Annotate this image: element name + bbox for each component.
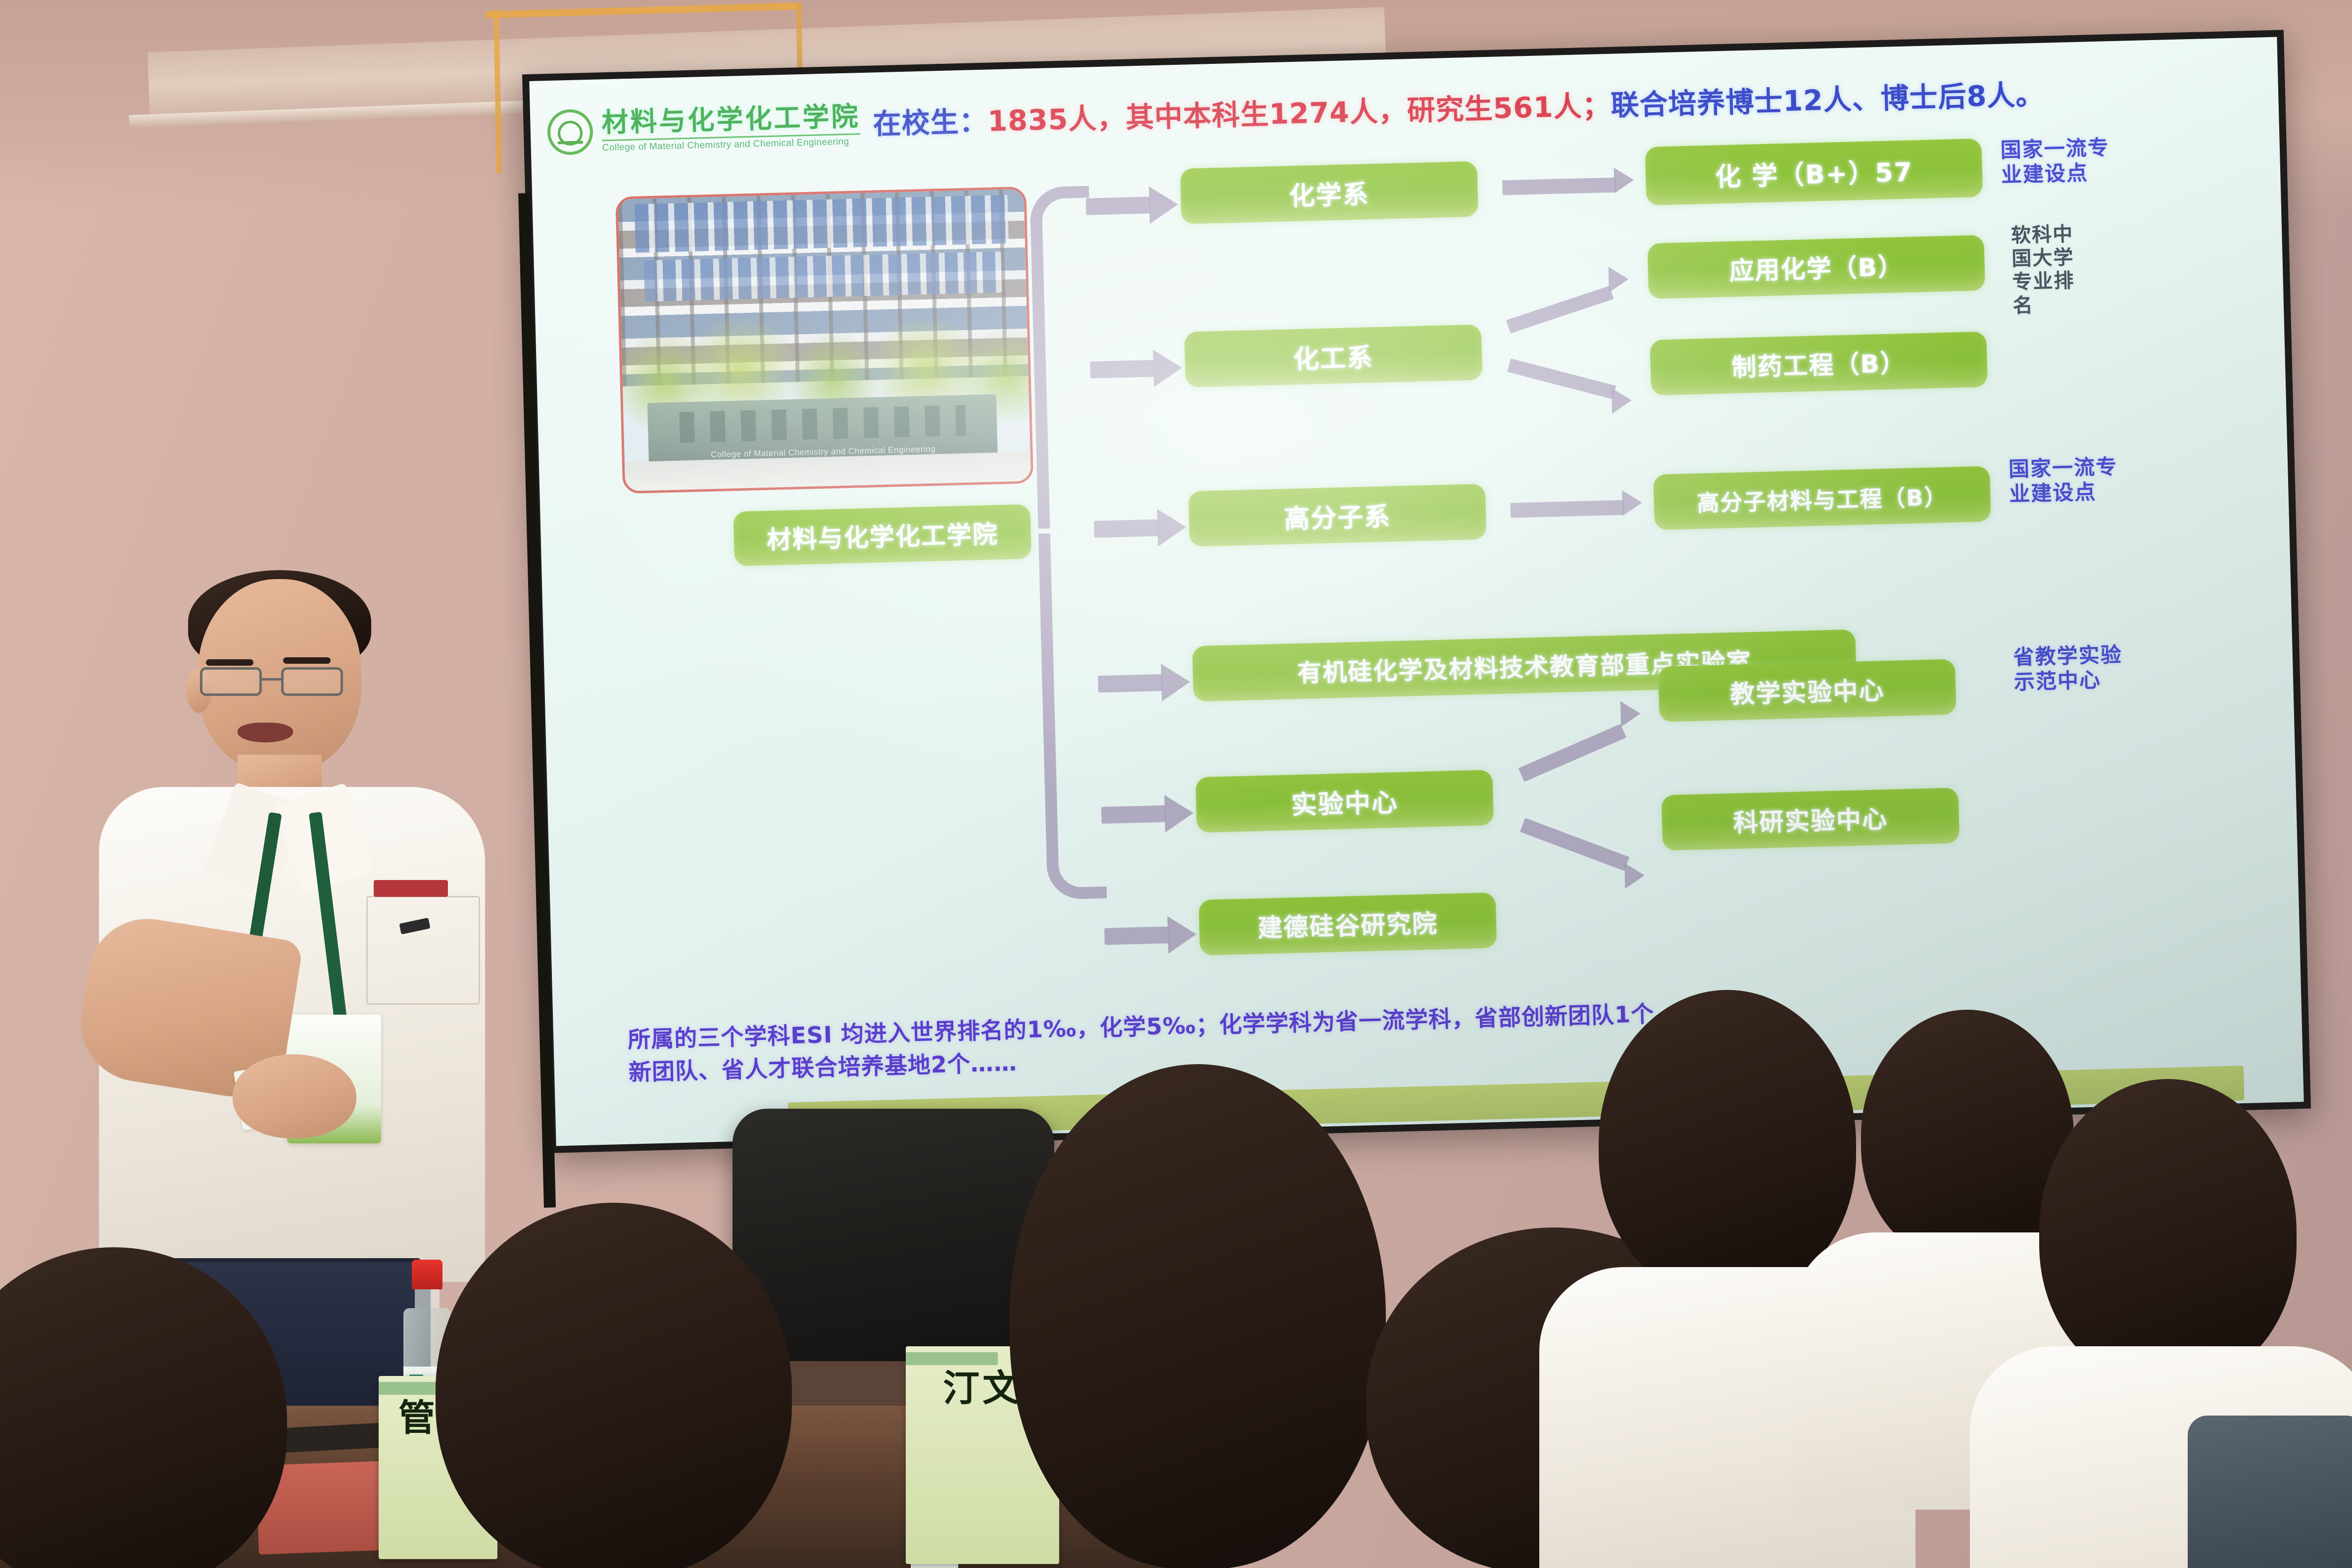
arrow-chemeng-to-applied bbox=[1506, 286, 1614, 333]
box-dept-chemistry: 化学系 bbox=[1180, 161, 1478, 224]
box-dept-chemeng: 化工系 bbox=[1184, 325, 1483, 388]
annotation-shanghai-ranking: 软科中 国大学 专业排 名 bbox=[2011, 223, 2076, 318]
header-statistics-line: 在校生：1835人，其中本科生1274人，研究生561人；联合培养博士12人、博… bbox=[873, 81, 2045, 139]
box-major-applied-chemistry: 应用化学（B） bbox=[1647, 235, 1985, 299]
college-seal-icon bbox=[547, 109, 593, 155]
header-grad: 研究生561人； bbox=[1407, 89, 1612, 127]
audience-head bbox=[0, 1247, 287, 1568]
arrow-head-polymer-dept bbox=[1157, 508, 1187, 546]
arrow-head-jiande-institute bbox=[1167, 915, 1197, 953]
box-major-polymer-materials: 高分子材料与工程（B） bbox=[1653, 466, 1991, 530]
annotation-national-first-class-top: 国家一流专 业建设点 bbox=[2000, 135, 2110, 187]
glasses-lens-left bbox=[200, 667, 262, 696]
box-experiment-center: 实验中心 bbox=[1195, 770, 1494, 833]
arrow-head-key-lab bbox=[1161, 663, 1191, 701]
arrow-to-exp-center bbox=[1101, 805, 1166, 824]
box-teaching-experiment-center: 教学实验中心 bbox=[1658, 659, 1957, 722]
audience-member-1 bbox=[0, 1247, 287, 1568]
arrow-chemistry-to-major bbox=[1502, 178, 1617, 196]
glasses-bridge bbox=[262, 678, 282, 681]
college-logo: 材料与化学化工学院 College of Material Chemistry … bbox=[547, 102, 861, 155]
audience-head bbox=[436, 1203, 792, 1568]
audience-member-2 bbox=[436, 1203, 792, 1568]
audience-member-8 bbox=[2188, 1416, 2352, 1568]
audience-member-5 bbox=[1599, 990, 1856, 1297]
screen-surface: 材料与化学化工学院 College of Material Chemistry … bbox=[529, 37, 2303, 1146]
arrow-head-applied-chem bbox=[1609, 266, 1629, 293]
photo-window-row-2 bbox=[644, 251, 1002, 301]
audience-head bbox=[1010, 1064, 1386, 1568]
audience-head bbox=[2039, 1079, 2297, 1386]
presenter-shirt-pocket bbox=[366, 896, 480, 1005]
connector-trunk-lower bbox=[1038, 532, 1107, 900]
box-major-chemistry: 化 学（B+）57 bbox=[1645, 139, 1983, 205]
audience-member-7 bbox=[2039, 1079, 2297, 1386]
college-building-photo: College of Material Chemistry and Chemic… bbox=[615, 187, 1033, 494]
box-college-root: 材料与化学化工学院 bbox=[733, 504, 1031, 566]
arrow-to-chemistry-dept bbox=[1086, 196, 1151, 215]
presenter-mouth bbox=[238, 723, 293, 742]
header-undergrad: 1835人，其中本科生1274人， bbox=[987, 95, 1408, 138]
header-phd: 联合培养博士12人、博士后8人。 bbox=[1611, 78, 2045, 122]
box-dept-polymer: 高分子系 bbox=[1188, 484, 1487, 546]
annotation-national-first-class-bottom: 国家一流专 业建设点 bbox=[2009, 454, 2118, 506]
header-label: 在校生： bbox=[873, 105, 988, 141]
presentation-slide: 材料与化学化工学院 College of Material Chemistry … bbox=[529, 37, 2303, 1146]
logo-chinese-name: 材料与化学化工学院 bbox=[601, 102, 860, 137]
box-jiande-institute: 建德硅谷研究院 bbox=[1199, 892, 1497, 955]
photo-window-row-1 bbox=[635, 195, 1009, 253]
arrow-head-chemistry-dept bbox=[1149, 186, 1178, 224]
arrow-to-key-lab bbox=[1098, 674, 1163, 692]
projection-screen: 材料与化学化工学院 College of Material Chemistry … bbox=[522, 30, 2311, 1153]
connector-trunk-upper bbox=[1029, 186, 1097, 529]
arrow-center-to-research bbox=[1520, 818, 1629, 871]
arrow-polymer-to-major bbox=[1511, 500, 1625, 518]
arrow-to-chemeng-dept bbox=[1090, 360, 1155, 378]
audience-chair-back bbox=[2188, 1416, 2352, 1568]
arrow-head-exp-center bbox=[1164, 794, 1194, 833]
annotation-province-demo-center: 省教学实验 示范中心 bbox=[2013, 642, 2123, 694]
box-research-experiment-center: 科研实验中心 bbox=[1662, 787, 1960, 850]
arrow-chemeng-to-pharma bbox=[1507, 358, 1616, 399]
presenter-glasses-icon bbox=[197, 667, 360, 697]
audience-member-3 bbox=[1010, 1064, 1386, 1568]
arrow-center-to-teaching bbox=[1519, 724, 1626, 782]
arrow-head-pharma-eng bbox=[1612, 388, 1632, 414]
arrow-to-polymer-dept bbox=[1094, 519, 1159, 538]
logo-text-block: 材料与化学化工学院 College of Material Chemistry … bbox=[601, 102, 861, 153]
presenter-hand bbox=[233, 1054, 356, 1138]
presenter-name-tag bbox=[374, 880, 448, 897]
photo-monument-chinese bbox=[679, 405, 966, 443]
arrow-head-polymer-major bbox=[1622, 490, 1642, 516]
presenter-brow-left bbox=[206, 659, 253, 666]
arrow-head-chemistry-major bbox=[1614, 167, 1634, 194]
box-major-pharma-engineering: 制药工程（B） bbox=[1650, 332, 1988, 395]
arrow-to-jiande-institute bbox=[1104, 927, 1169, 945]
photo-scene: 材料与化学化工学院 College of Material Chemistry … bbox=[0, 0, 2352, 1568]
org-diagram: College of Material Chemistry and Chemic… bbox=[532, 126, 2301, 1023]
arrow-head-chemeng-dept bbox=[1153, 349, 1182, 387]
glasses-lens-right bbox=[281, 667, 343, 696]
arrow-head-teaching-center bbox=[1620, 701, 1641, 727]
audience-head bbox=[1599, 990, 1856, 1297]
arrow-head-research-center bbox=[1624, 863, 1645, 889]
presenter-brow-right bbox=[283, 657, 331, 664]
